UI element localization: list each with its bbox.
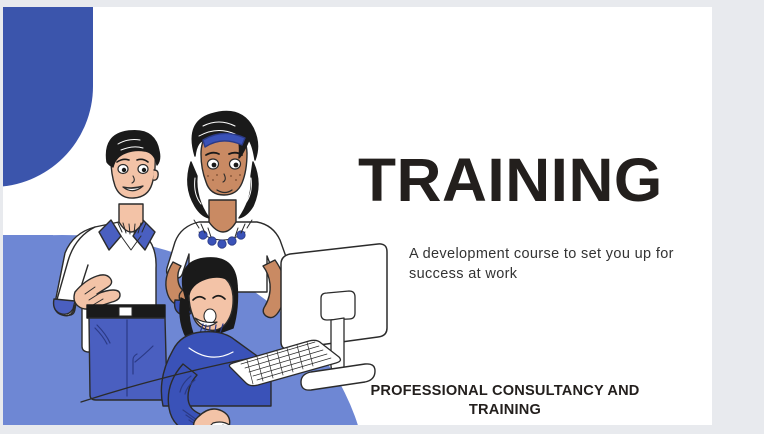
illustration-three-colleagues <box>23 92 403 425</box>
presentation-slide[interactable]: TRAINING A development course to set you… <box>3 7 712 425</box>
slide-subtitle: A development course to set you up for s… <box>409 244 689 284</box>
screenshot-stage: TRAINING A development course to set you… <box>0 0 764 434</box>
page-title: TRAINING <box>358 149 663 211</box>
footer-heading: PROFESSIONAL CONSULTANCY AND TRAINING <box>359 382 651 420</box>
